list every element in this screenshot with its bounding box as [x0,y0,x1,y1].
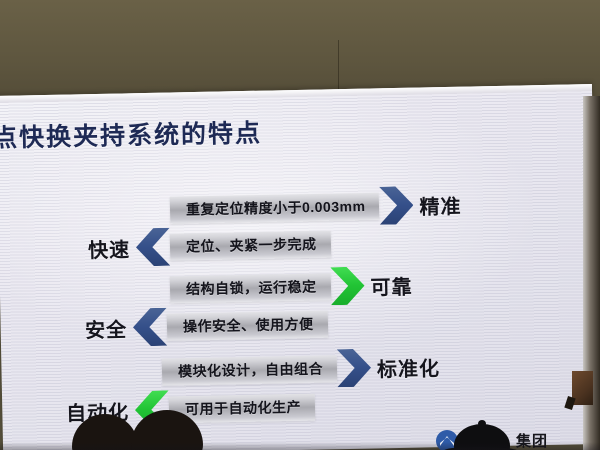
feature-label-1: 精准 [419,190,462,220]
feature-bar-text-6: 可用于自动化生产 [185,397,301,419]
feature-bar-2: 定位、夹紧一步完成 [170,230,331,260]
cap-button [478,420,486,427]
feature-row-2: 快速 定位、夹紧一步完成 [88,225,331,268]
feature-bar-1: 重复定位精度小于0.003mm [170,192,380,223]
chevron-left-icon [133,308,168,347]
chevron-right-icon [330,267,365,306]
feature-bar-text-5: 模块化设计，自由组合 [178,359,323,382]
feature-label-5: 标准化 [377,352,441,382]
feature-bar-text-1: 重复定位精度小于0.003mm [186,196,366,219]
feature-bar-5: 模块化设计，自由组合 [162,355,337,385]
wooden-fixture [572,371,593,405]
chevron-left-icon [136,228,171,267]
feature-label-3: 可靠 [370,270,413,300]
feature-label-2: 快速 [88,233,131,263]
feature-row-4: 安全 操作安全、使用方便 [85,305,328,348]
slide-content: 点快换夹持系统的特点 重复定位精度小于0.003mm 精准 快速 定位、夹紧一步… [0,0,600,450]
feature-bar-text-4: 操作安全、使用方便 [183,314,314,337]
chevron-right-icon [337,349,372,388]
feature-row-5: 模块化设计，自由组合 标准化 [162,347,441,390]
feature-row-3: 结构自锁，运行稳定 可靠 [170,266,413,309]
page-title: 点快换夹持系统的特点 [0,113,262,154]
feature-bar-4: 操作安全、使用方便 [167,310,328,340]
feature-row-1: 重复定位精度小于0.003mm 精准 [170,185,462,229]
bottom-vignette [0,442,600,450]
feature-label-4: 安全 [85,313,128,343]
chevron-right-icon [379,186,414,225]
feature-bar-text-2: 定位、夹紧一步完成 [186,234,317,257]
presentation-photo: 点快换夹持系统的特点 重复定位精度小于0.003mm 精准 快速 定位、夹紧一步… [0,0,600,450]
feature-bar-3: 结构自锁，运行稳定 [170,273,331,303]
feature-bar-text-3: 结构自锁，运行稳定 [186,277,317,300]
